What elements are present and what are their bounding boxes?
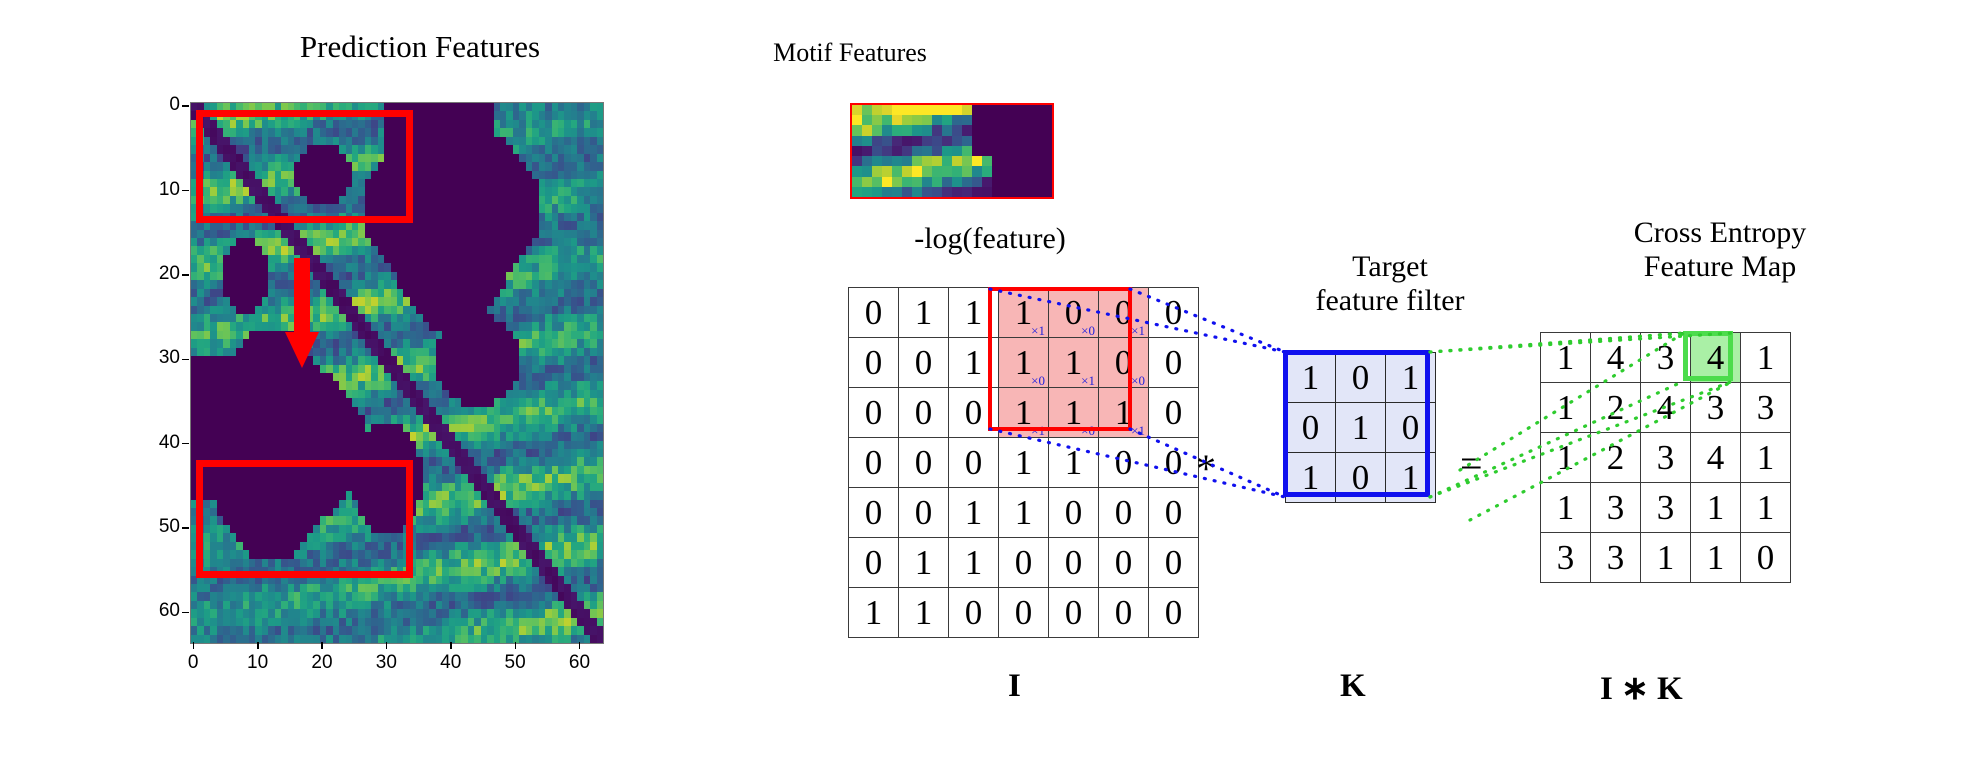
matrix-cell: 0: [899, 488, 949, 538]
matrix-cell: 0: [849, 288, 899, 338]
matrix-cell: 0: [1049, 588, 1099, 638]
matrix-cell: 1: [899, 588, 949, 638]
matrix-cell: 0: [1149, 288, 1199, 338]
y-tick: [182, 274, 189, 276]
y-tick: [182, 612, 189, 614]
convolution-operator: *: [1196, 445, 1216, 492]
matrix-row: 13311: [1541, 483, 1791, 533]
matrix-cell: 0×0: [1099, 338, 1149, 388]
matrix-cell: 0: [849, 488, 899, 538]
matrix-cell: 0: [899, 338, 949, 388]
y-tick-label: 0: [144, 94, 180, 116]
matrix-cell: 1: [1386, 353, 1436, 403]
matrix-cell: 1×1: [1099, 388, 1149, 438]
x-tick: [193, 642, 195, 649]
y-tick: [182, 443, 189, 445]
x-tick-label: 20: [311, 652, 333, 674]
matrix-cell: 0: [999, 588, 1049, 638]
matrix-cell: 1×1: [999, 288, 1049, 338]
matrix-cell: 0: [1336, 353, 1386, 403]
matrix-cell: 1: [999, 488, 1049, 538]
matrix-cell: 0: [949, 588, 999, 638]
y-tick-label: 50: [144, 516, 180, 538]
y-tick: [182, 527, 189, 529]
matrix-cell: 1×0: [1049, 388, 1099, 438]
matrix-row: 0001100: [849, 438, 1199, 488]
x-tick-label: 30: [375, 652, 397, 674]
prediction-features-title: Prediction Features: [170, 30, 670, 65]
multiplier-label: ×1: [1031, 424, 1045, 437]
x-tick-label: 10: [247, 652, 269, 674]
matrix-cell: 3: [1641, 483, 1691, 533]
label-I: I: [1008, 668, 1021, 705]
matrix-cell: 4: [1691, 333, 1741, 383]
matrix-cell: 1: [1541, 483, 1591, 533]
matrix-cell: 0: [849, 338, 899, 388]
matrix-cell: 1: [1386, 453, 1436, 503]
matrix-cell: 0: [1149, 538, 1199, 588]
matrix-cell: 1: [849, 588, 899, 638]
matrix-cell: 0: [1741, 533, 1791, 583]
matrix-cell: 4: [1591, 333, 1641, 383]
prediction-annotation-box-top: [196, 110, 413, 223]
matrix-cell: 0: [1149, 488, 1199, 538]
multiplier-label: ×0: [1031, 374, 1045, 387]
matrix-cell: 1: [1691, 483, 1741, 533]
matrix-cell: 1: [1741, 483, 1791, 533]
matrix-cell: 0: [899, 388, 949, 438]
multiplier-label: ×0: [1081, 424, 1095, 437]
matrix-row: 33110: [1541, 533, 1791, 583]
matrix-cell: 1: [1336, 403, 1386, 453]
matrix-row: 12433: [1541, 383, 1791, 433]
matrix-cell: 0: [1099, 488, 1149, 538]
multiplier-label: ×0: [1081, 324, 1095, 337]
x-tick-label: 60: [568, 652, 590, 674]
matrix-row: 101: [1286, 353, 1436, 403]
x-tick-label: 50: [504, 652, 526, 674]
matrix-cell: 1: [949, 538, 999, 588]
multiplier-label: ×1: [1131, 324, 1145, 337]
matrix-cell: 1: [949, 288, 999, 338]
matrix-row: 12341: [1541, 433, 1791, 483]
matrix-cell: 3: [1641, 433, 1691, 483]
matrix-cell: 4: [1691, 433, 1741, 483]
input-matrix-title: -log(feature): [800, 222, 1180, 256]
x-tick: [450, 642, 452, 649]
multiplier-label: ×1: [1031, 324, 1045, 337]
matrix-cell: 0×0: [1049, 288, 1099, 338]
matrix-cell: 1×0: [999, 338, 1049, 388]
y-tick-label: 60: [144, 600, 180, 622]
matrix-row: 0011000: [849, 488, 1199, 538]
red-down-arrow-icon: [285, 258, 319, 368]
matrix-cell: 1: [1691, 533, 1741, 583]
matrix-cell: 0: [1149, 588, 1199, 638]
matrix-cell: 1: [899, 288, 949, 338]
multiplier-label: ×1: [1131, 424, 1145, 437]
x-tick-label: 40: [440, 652, 462, 674]
matrix-cell: 4: [1641, 383, 1691, 433]
label-K: K: [1340, 668, 1366, 705]
x-tick: [321, 642, 323, 649]
matrix-cell: 2: [1591, 433, 1641, 483]
matrix-cell: 3: [1591, 533, 1641, 583]
motif-features-title: Motif Features: [700, 38, 1000, 67]
y-tick: [182, 105, 189, 107]
matrix-cell: 3: [1641, 333, 1691, 383]
matrix-cell: 0×1: [1099, 288, 1149, 338]
y-tick: [182, 359, 189, 361]
matrix-cell: 0: [1049, 488, 1099, 538]
matrix-cell: 0: [1049, 538, 1099, 588]
matrix-cell: 1: [949, 488, 999, 538]
matrix-row: 010: [1286, 403, 1436, 453]
matrix-cell: 0: [849, 388, 899, 438]
matrix-cell: 1: [1541, 333, 1591, 383]
matrix-row: 0111×10×00×10: [849, 288, 1199, 338]
y-tick-label: 40: [144, 432, 180, 454]
x-tick: [579, 642, 581, 649]
matrix-row: 101: [1286, 453, 1436, 503]
matrix-cell: 0: [1149, 438, 1199, 488]
matrix-row: 0001×11×01×10: [849, 388, 1199, 438]
matrix-cell: 0: [1149, 338, 1199, 388]
x-tick: [515, 642, 517, 649]
output-matrix-IK: 1434112433123411331133110: [1540, 332, 1791, 583]
prediction-annotation-box-bottom: [196, 460, 413, 578]
matrix-cell: 1: [1741, 433, 1791, 483]
matrix-cell: 3: [1741, 383, 1791, 433]
matrix-cell: 2: [1591, 383, 1641, 433]
matrix-cell: 3: [1541, 533, 1591, 583]
matrix-cell: 1: [1286, 353, 1336, 403]
matrix-cell: 0: [1099, 438, 1149, 488]
equals-operator: =: [1460, 440, 1483, 487]
matrix-cell: 0: [849, 438, 899, 488]
matrix-cell: 1: [1286, 453, 1336, 503]
matrix-row: 0011×01×10×00: [849, 338, 1199, 388]
y-tick-label: 20: [144, 263, 180, 285]
matrix-row: 14341: [1541, 333, 1791, 383]
matrix-cell: 3: [1591, 483, 1641, 533]
matrix-cell: 0: [949, 388, 999, 438]
multiplier-label: ×0: [1131, 374, 1145, 387]
matrix-cell: 1×1: [999, 388, 1049, 438]
matrix-cell: 1×1: [1049, 338, 1099, 388]
y-tick: [182, 190, 189, 192]
kernel-matrix-title: Target feature filter: [1240, 250, 1540, 317]
matrix-cell: 1: [1541, 383, 1591, 433]
matrix-cell: 0: [949, 438, 999, 488]
matrix-cell: 0: [1286, 403, 1336, 453]
matrix-cell: 1: [1541, 433, 1591, 483]
matrix-cell: 0: [999, 538, 1049, 588]
matrix-cell: 0: [1099, 538, 1149, 588]
figure-canvas: Prediction Features 01020304050600102030…: [0, 0, 1974, 784]
matrix-cell: 1: [899, 538, 949, 588]
matrix-cell: 1: [949, 338, 999, 388]
matrix-cell: 0: [1336, 453, 1386, 503]
kernel-matrix-K: 101010101: [1285, 352, 1436, 503]
input-matrix-I: 0111×10×00×100011×01×10×000001×11×01×100…: [848, 287, 1199, 638]
output-matrix-title: Cross Entropy Feature Map: [1530, 216, 1910, 283]
x-tick-label: 0: [182, 652, 204, 674]
matrix-cell: 0: [1149, 388, 1199, 438]
matrix-cell: 1: [1049, 438, 1099, 488]
motif-features-heatmap: [850, 103, 1054, 199]
x-tick: [257, 642, 259, 649]
matrix-cell: 0: [849, 538, 899, 588]
matrix-cell: 3: [1691, 383, 1741, 433]
multiplier-label: ×1: [1081, 374, 1095, 387]
matrix-cell: 0: [1386, 403, 1436, 453]
matrix-cell: 1: [1741, 333, 1791, 383]
matrix-cell: 1: [1641, 533, 1691, 583]
y-tick-label: 10: [144, 179, 180, 201]
matrix-row: 0110000: [849, 538, 1199, 588]
matrix-cell: 0: [899, 438, 949, 488]
matrix-cell: 1: [999, 438, 1049, 488]
y-tick-label: 30: [144, 347, 180, 369]
matrix-cell: 0: [1099, 588, 1149, 638]
label-I-conv-K: I ∗ K: [1600, 668, 1683, 708]
matrix-row: 1100000: [849, 588, 1199, 638]
x-tick: [386, 642, 388, 649]
